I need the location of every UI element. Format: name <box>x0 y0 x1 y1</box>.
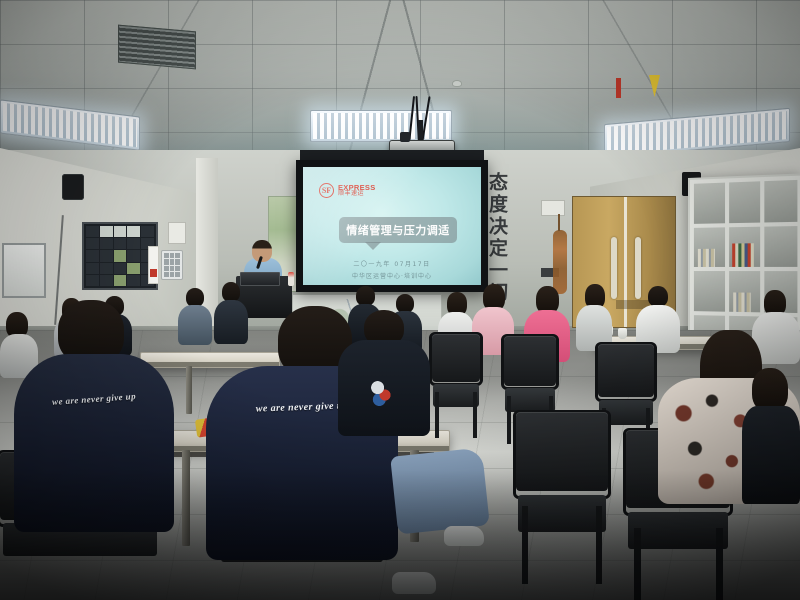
notice-cell <box>86 250 99 261</box>
notice-cell <box>127 250 140 261</box>
notice-cell <box>114 238 127 249</box>
notice-cell <box>86 263 99 274</box>
slide-subtitle-date: 二〇一九年 07月17日 <box>303 259 481 268</box>
jersey-graphic <box>364 374 398 408</box>
smoke-detector-icon <box>452 80 462 87</box>
chair[interactable] <box>432 334 480 438</box>
seated-legs <box>390 447 490 534</box>
door-hanging-ornament <box>553 230 567 294</box>
wall-plaque <box>541 200 565 216</box>
projection-screen: SF EXPRESS 顺丰速运 情绪管理与压力调适 二〇一九年 07月17日 中… <box>296 160 488 292</box>
classroom-scene: 态度决定一切 SF EXPRESS 顺丰速运 <box>0 0 800 600</box>
sf-logo-text: EXPRESS 顺丰速运 <box>338 184 376 198</box>
wall-poster <box>168 222 186 244</box>
chair-back <box>598 344 654 397</box>
notice-cell <box>127 263 140 274</box>
slide-subtitle-org: 中华区运营中心·培训中心 <box>303 271 481 280</box>
shoe <box>392 572 436 594</box>
audience-member-jersey <box>338 310 430 430</box>
torso <box>742 406 800 504</box>
notice-cell <box>100 250 113 261</box>
torso <box>14 354 174 532</box>
shelf-cell <box>729 226 761 267</box>
chair-leg <box>716 528 723 600</box>
notice-cell <box>86 275 99 286</box>
shelf-cell <box>765 180 798 222</box>
audience-member-right <box>742 368 800 498</box>
chair-seat <box>518 495 606 533</box>
notice-cell <box>100 238 113 249</box>
chair-seat <box>628 512 728 549</box>
chair-leg <box>507 396 511 444</box>
chair-leg <box>596 506 602 584</box>
air-vent <box>118 25 196 70</box>
chair-leg <box>634 528 641 600</box>
sf-logo-mark: SF <box>319 183 334 198</box>
notice-cell <box>100 275 113 286</box>
sf-logo-cn: 顺丰速运 <box>338 191 376 197</box>
shelf-cell <box>694 227 725 267</box>
wall-card <box>148 246 159 284</box>
notice-cell <box>114 275 127 286</box>
notice-cell <box>100 263 113 274</box>
audience-member <box>576 284 612 346</box>
notice-cell <box>114 250 127 261</box>
audience-member-foreground-left: we are never give up <box>14 300 174 530</box>
head <box>356 286 375 306</box>
head <box>222 282 240 302</box>
chair-leg <box>435 392 439 438</box>
chair[interactable] <box>516 412 608 584</box>
shelf-cell <box>729 181 761 222</box>
chair-leg <box>522 506 528 584</box>
notice-cell <box>127 238 140 249</box>
shoe <box>444 526 484 546</box>
table-leg <box>186 366 192 414</box>
notice-cell <box>141 226 154 237</box>
head <box>648 286 668 307</box>
chair-seat <box>505 388 555 412</box>
notice-cell <box>127 226 140 237</box>
projection-screen-surface: SF EXPRESS 顺丰速运 情绪管理与压力调适 二〇一九年 07月17日 中… <box>303 167 481 285</box>
notice-cell <box>114 226 127 237</box>
slide-title-bubble: 情绪管理与压力调适 <box>339 217 457 243</box>
notice-cell <box>86 238 99 249</box>
paper-cup <box>618 328 627 339</box>
notice-cell <box>114 263 127 274</box>
shelf-cell <box>694 183 725 224</box>
chair-leg <box>473 392 477 438</box>
notice-board <box>82 222 158 290</box>
left-whiteboard <box>2 243 46 298</box>
chair-back <box>504 336 556 386</box>
chair-back <box>432 334 480 382</box>
ceiling-red-tag <box>616 78 621 98</box>
notice-cell <box>127 275 140 286</box>
sf-express-logo: SF EXPRESS 顺丰速运 <box>319 183 376 198</box>
slide-title: 情绪管理与压力调适 <box>346 222 450 238</box>
shelf-cell <box>765 225 798 266</box>
notice-cell <box>100 226 113 237</box>
notice-cell <box>86 226 99 237</box>
wall-keypad[interactable] <box>161 250 183 280</box>
shelf-cell <box>694 271 725 311</box>
water-bottle <box>288 272 294 286</box>
table-leg <box>182 450 190 546</box>
wall-speaker-icon <box>62 174 84 200</box>
chair-back <box>516 412 608 491</box>
